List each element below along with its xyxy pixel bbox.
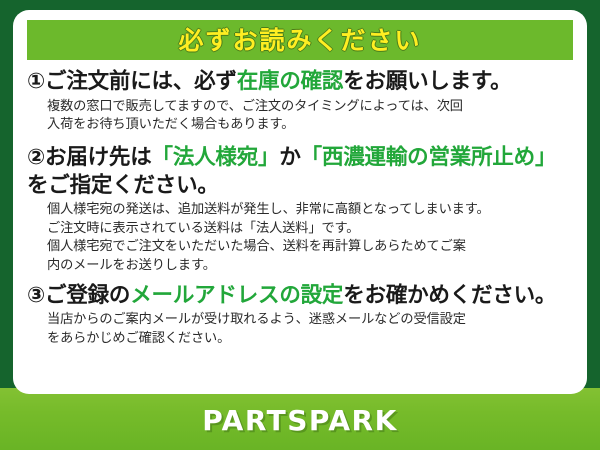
item-2-heading-highlight-2: 「西濃運輸の営業所止め」 (301, 145, 557, 170)
item-3-marker: ③ (27, 283, 45, 308)
item-1-heading-before: ご注文前には、必ず (45, 69, 237, 94)
item-1-heading: ①ご注文前には、必ず在庫の確認をお願いします。 (27, 68, 573, 96)
item-3-heading: ③ご登録のメールアドレスの設定をお確かめください。 (27, 282, 573, 310)
item-3-body-line-1: 当店からのご案内メールが受け取れるよう、迷惑メールなどの受信設定 (47, 311, 573, 330)
notice-item-2: ②お届け先は「法人様宛」か「西濃運輸の営業所止め」をご指定ください。 個人様宅宛… (27, 144, 573, 276)
item-1-body: 複数の窓口で販売してますので、ご注文のタイミングによっては、次回 入荷をお待ち頂… (47, 98, 573, 135)
item-1-heading-highlight: 在庫の確認 (237, 69, 344, 94)
item-2-heading-before: お届け先は (45, 145, 152, 170)
item-1-marker: ① (27, 69, 45, 94)
notice-card: PARTSPARK 必ずお読みください ①ご注文前には、必ず在庫の確認をお願いし… (0, 0, 600, 450)
item-2-heading: ②お届け先は「法人様宛」か「西濃運輸の営業所止め」をご指定ください。 (27, 144, 573, 199)
item-2-body-line-2: ご注文時に表示されている送料は「法人送料」です。 (47, 220, 573, 239)
item-1-heading-after: をお願いします。 (343, 69, 511, 94)
item-2-body-line-1: 個人様宅宛の発送は、追加送料が発生し、非常に高額となってしまいます。 (47, 201, 573, 220)
brand-wordmark: PARTSPARK (202, 403, 398, 435)
item-2-marker: ② (27, 145, 45, 170)
item-2-heading-middle: か (279, 145, 300, 170)
item-3-heading-before: ご登録の (45, 283, 130, 308)
notice-title: 必ずお読みください (178, 28, 421, 53)
item-2-body: 個人様宅宛の発送は、追加送料が発生し、非常に高額となってしまいます。 ご注文時に… (47, 201, 573, 276)
notice-item-1: ①ご注文前には、必ず在庫の確認をお願いします。 複数の窓口で販売してますので、ご… (27, 68, 573, 135)
item-3-body: 当店からのご案内メールが受け取れるよう、迷惑メールなどの受信設定 をあらかじめご… (47, 311, 573, 348)
item-2-heading-highlight: 「法人様宛」 (152, 145, 280, 170)
item-1-body-line-1: 複数の窓口で販売してますので、ご注文のタイミングによっては、次回 (47, 98, 573, 117)
notice-title-band: 必ずお読みください (27, 20, 573, 60)
notice-item-3: ③ご登録のメールアドレスの設定をお確かめください。 当店からのご案内メールが受け… (27, 282, 573, 349)
item-2-body-line-4: 内のメールをお送りします。 (47, 257, 573, 276)
footer-brand-band: PARTSPARK (0, 388, 600, 450)
item-3-body-line-2: をあらかじめご確認ください。 (47, 330, 573, 349)
item-2-heading-after: をご指定ください。 (27, 173, 219, 198)
item-3-heading-after: をお確かめください。 (343, 283, 556, 308)
item-3-heading-highlight: メールアドレスの設定 (130, 283, 343, 308)
spacer-after-item-1 (27, 137, 573, 144)
item-2-body-line-3: 個人様宅宛でご注文をいただいた場合、送料を再計算しあらためてご案 (47, 238, 573, 257)
notice-panel: 必ずお読みください ①ご注文前には、必ず在庫の確認をお願いします。 複数の窓口で… (13, 10, 587, 394)
item-1-body-line-2: 入荷をお待ち頂いただく場合もあります。 (47, 116, 573, 135)
